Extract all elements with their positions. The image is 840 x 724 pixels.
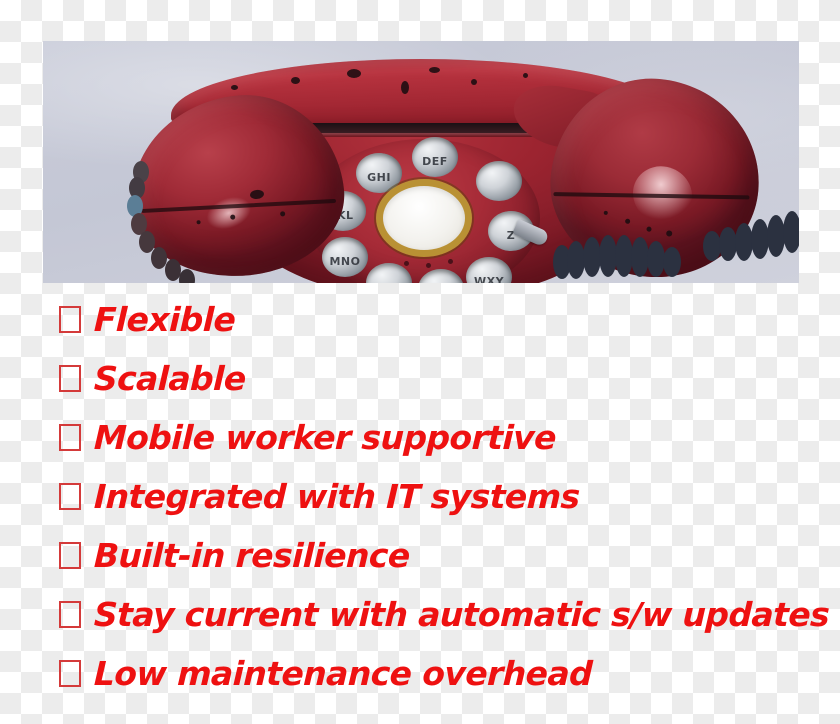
handset-cord-coiled-right: [553, 231, 799, 283]
benefits-checklist: Flexible Scalable Mobile worker supporti…: [0, 290, 840, 703]
rotary-dial: DEF GHI JKL MNO PRS TUV WXY Z: [308, 139, 540, 283]
checkbox-icon[interactable]: [59, 483, 81, 510]
paint-chip: [291, 77, 300, 84]
dial-screw: [426, 263, 431, 268]
dial-hole-label: WXY: [474, 275, 504, 284]
checklist-item-label: Flexible: [93, 303, 236, 336]
dial-hole-4: MNO: [322, 237, 368, 277]
dial-hole-label: MNO: [329, 255, 360, 268]
paint-chip: [429, 67, 440, 73]
handset-highlight: [623, 156, 702, 233]
checkbox-icon[interactable]: [59, 306, 81, 333]
telephone-photo: DEF GHI JKL MNO PRS TUV WXY Z: [43, 41, 799, 283]
checklist-item-mobile-worker-supportive[interactable]: Mobile worker supportive: [0, 408, 840, 467]
checklist-item-scalable[interactable]: Scalable: [0, 349, 840, 408]
handset-cord-left: [123, 161, 193, 283]
checklist-item-label: Built-in resilience: [93, 539, 410, 572]
paint-chip: [347, 69, 361, 78]
paint-chip: [604, 211, 608, 215]
dial-hole-label: DEF: [422, 155, 448, 168]
checklist-item-integrated-with-it-systems[interactable]: Integrated with IT systems: [0, 467, 840, 526]
paint-chip: [280, 211, 285, 216]
paint-chip: [523, 73, 528, 78]
dial-hole-1: DEF: [412, 137, 458, 177]
checklist-item-label: Integrated with IT systems: [93, 480, 580, 513]
paint-chip: [231, 85, 238, 90]
paint-chip: [250, 189, 265, 199]
paint-chip: [625, 219, 630, 224]
checkbox-icon[interactable]: [59, 424, 81, 451]
checklist-item-flexible[interactable]: Flexible: [0, 290, 840, 349]
dial-center-disc: [376, 179, 472, 257]
checklist-item-stay-current-automatic-updates[interactable]: Stay current with automatic s/w updates: [0, 585, 840, 644]
handset-highlight: [202, 191, 255, 235]
paint-chip: [401, 81, 409, 94]
checklist-item-label: Stay current with automatic s/w updates: [93, 598, 829, 631]
checkbox-icon[interactable]: [59, 365, 81, 392]
checklist-item-low-maintenance-overhead[interactable]: Low maintenance overhead: [0, 644, 840, 703]
checklist-item-label: Scalable: [93, 362, 246, 395]
dial-hole-label: PRS: [376, 281, 402, 284]
dial-screw: [448, 259, 453, 264]
checkbox-icon[interactable]: [59, 660, 81, 687]
checklist-item-label: Low maintenance overhead: [93, 657, 592, 690]
slide-canvas: DEF GHI JKL MNO PRS TUV WXY Z: [0, 0, 840, 724]
dial-hole-9: [476, 161, 522, 201]
paint-chip: [196, 220, 200, 224]
checkbox-icon[interactable]: [59, 542, 81, 569]
checklist-item-label: Mobile worker supportive: [93, 421, 556, 454]
paint-chip: [471, 79, 477, 85]
dial-screw: [404, 261, 409, 266]
dial-hole-label: GHI: [367, 171, 391, 184]
checklist-item-built-in-resilience[interactable]: Built-in resilience: [0, 526, 840, 585]
checkbox-icon[interactable]: [59, 601, 81, 628]
